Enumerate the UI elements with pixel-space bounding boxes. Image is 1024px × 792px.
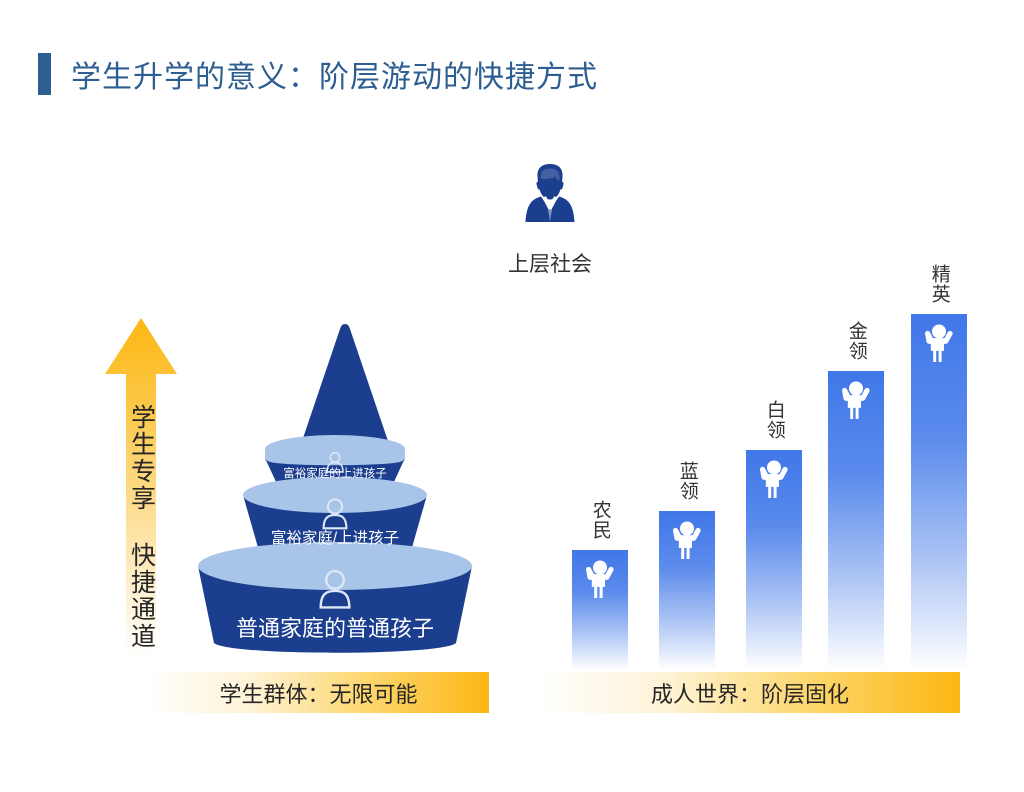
footer-students-banner: 学生群体：无限可能	[148, 672, 489, 713]
footer-adults-text: 成人世界：阶层固化	[651, 677, 849, 709]
pyramid-chart: 富裕家庭的上进孩子 富裕家庭/上进孩子 普通家庭的普通孩子	[190, 318, 480, 658]
pyramid-tier-2-label: 富裕家庭/上进孩子	[190, 526, 480, 548]
bar-column-1: 蓝领	[659, 248, 715, 670]
person-raised-arms-icon	[583, 558, 617, 598]
bar-label-3: 金领	[846, 321, 865, 361]
person-raised-arms-icon	[922, 322, 956, 362]
social-class-bar-chart: 农民 蓝领 白领 金领 精英	[548, 250, 988, 670]
bar-label-0: 农民	[590, 500, 609, 540]
bar-column-4: 精英	[911, 248, 967, 670]
bar-label-2: 白领	[764, 400, 783, 440]
pyramid-tier-1-label: 富裕家庭的上进孩子	[190, 465, 480, 481]
pyramid-tier-3-label: 普通家庭的普通孩子	[190, 611, 480, 643]
title-accent-bar	[38, 53, 51, 95]
title-text: 学生升学的意义：阶层游动的快捷方式	[71, 52, 598, 96]
fast-track-arrow: 学生专享 快捷通道	[104, 318, 178, 656]
businessman-icon	[519, 160, 581, 226]
person-raised-arms-icon	[757, 458, 791, 498]
bar-column-2: 白领	[746, 248, 802, 670]
person-raised-arms-icon	[839, 379, 873, 419]
arrow-label-wrap: 学生专享 快捷通道	[104, 404, 178, 654]
page-title: 学生升学的意义：阶层游动的快捷方式	[38, 52, 598, 96]
footer-adults-banner: 成人世界：阶层固化	[540, 672, 960, 713]
bar-label-1: 蓝领	[677, 461, 696, 501]
bar-column-3: 金领	[828, 248, 884, 670]
pyramid-graphic	[190, 318, 480, 658]
footer-students-text: 学生群体：无限可能	[219, 677, 417, 709]
arrow-label: 学生专享 快捷通道	[129, 404, 154, 650]
person-raised-arms-icon	[670, 519, 704, 559]
bar-column-0: 农民	[572, 248, 628, 670]
bar-rect-4	[911, 314, 967, 670]
bar-label-4: 精英	[929, 264, 948, 304]
